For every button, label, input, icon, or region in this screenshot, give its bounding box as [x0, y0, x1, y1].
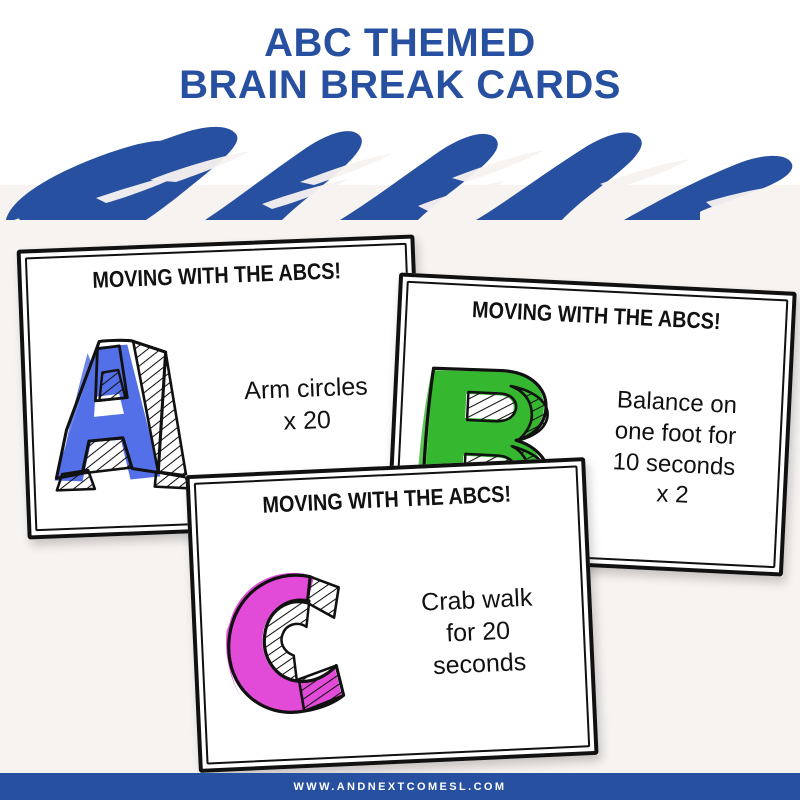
title-line-1: ABC THEMED [0, 22, 800, 64]
sketch-letter-a-icon [28, 325, 210, 500]
card-activity-text: Crab walk for 20 seconds [375, 579, 587, 684]
sketch-letter-c-icon [197, 552, 381, 730]
card-body: Crab walk for 20 seconds [196, 509, 590, 762]
card-activity-text: Arm circles x 20 [205, 369, 414, 441]
footer-bar: WWW.ANDNEXTCOMESL.COM [0, 773, 800, 800]
website-url[interactable]: WWW.ANDNEXTCOMESL.COM [294, 781, 507, 793]
poster-title: ABC THEMED BRAIN BREAK CARDS [0, 22, 800, 107]
poster-canvas: ABC THEMED BRAIN BREAK CARDS [0, 0, 800, 800]
brain-break-card-c[interactable]: MOVING WITH THE ABCS! [185, 457, 598, 773]
activity-line: x 20 [207, 401, 408, 441]
card-activity-text: Balance on one foot for 10 seconds x 2 [572, 383, 784, 516]
zigzag-brush-stroke-icon [0, 108, 800, 223]
title-line-2: BRAIN BREAK CARDS [0, 64, 800, 106]
